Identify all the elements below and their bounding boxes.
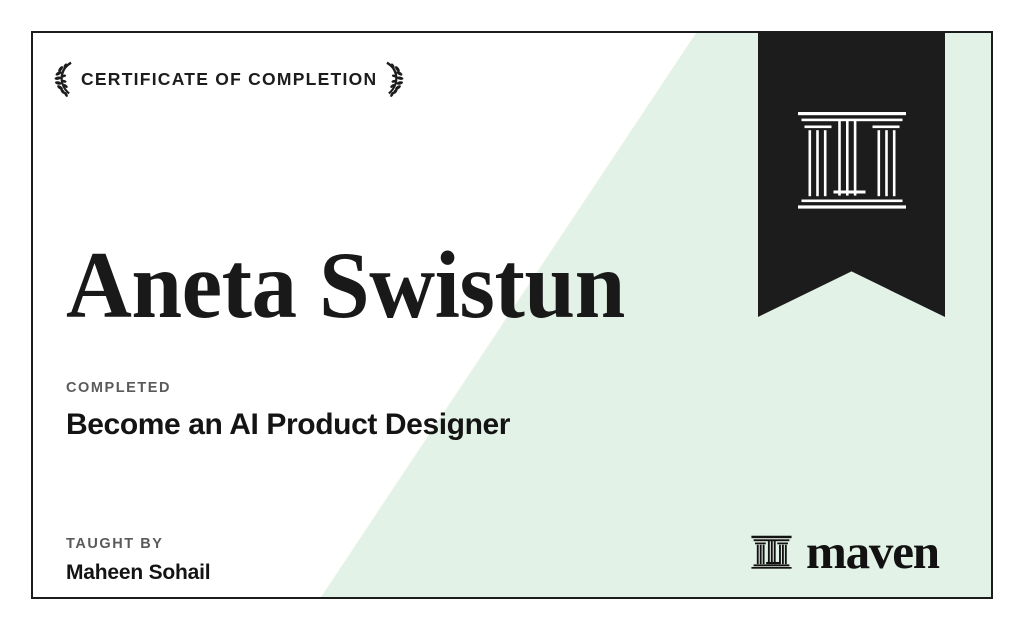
instructor-name: Maheen Sohail [66, 561, 210, 584]
course-title: Become an AI Product Designer [66, 408, 510, 441]
laurel-branch-left-icon [54, 60, 74, 100]
maven-wordmark: maven [806, 527, 939, 576]
taught-by-block: TAUGHT BY Maheen Sohail [66, 537, 210, 584]
classical-columns-emblem-icon [798, 110, 906, 215]
completed-block: COMPLETED Become an AI Product Designer [66, 381, 510, 441]
maven-logo: maven [750, 525, 939, 577]
recipient-name: Aneta Swistun [66, 238, 625, 333]
eyebrow-label: CERTIFICATE OF COMPLETION [81, 71, 377, 89]
eyebrow: CERTIFICATE OF COMPLETION [54, 59, 404, 101]
laurel-branch-right-icon [384, 60, 404, 100]
taught-by-label: TAUGHT BY [66, 537, 210, 552]
certificate-page: CERTIFICATE OF COMPLETION [0, 0, 1024, 630]
completed-label: COMPLETED [66, 381, 510, 396]
certificate-frame: CERTIFICATE OF COMPLETION [31, 31, 993, 599]
classical-columns-icon [750, 530, 793, 573]
